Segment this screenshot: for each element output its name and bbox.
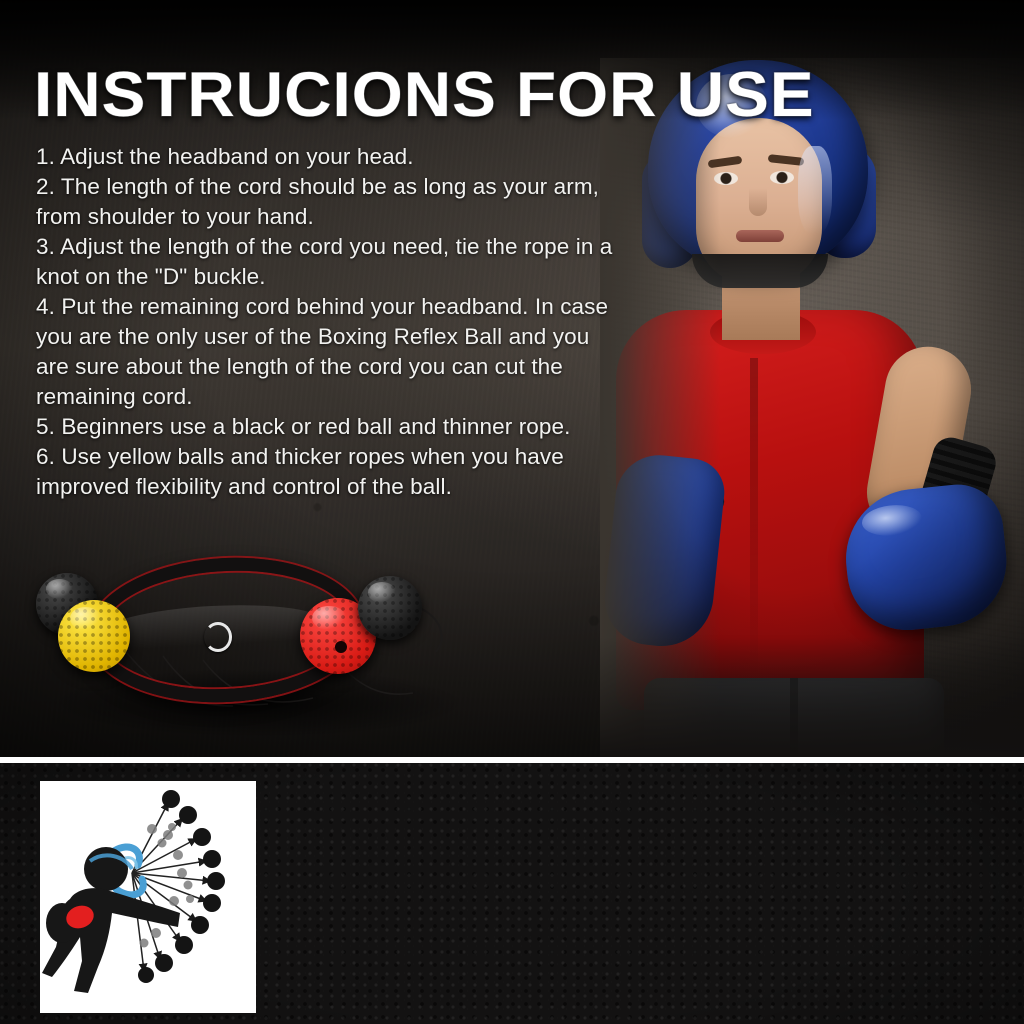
spare-ropes-panel: SPARE ROPES The package is equipped with… bbox=[0, 763, 1024, 1024]
trajectory-diagram-svg bbox=[40, 781, 256, 1013]
right-eye bbox=[770, 171, 794, 184]
left-eye bbox=[714, 172, 738, 185]
nose bbox=[749, 188, 767, 216]
instruction-step: 4. Put the remaining cord behind your he… bbox=[36, 292, 626, 412]
instruction-step: 6. Use yellow balls and thicker ropes wh… bbox=[36, 442, 626, 502]
instruction-step: 1. Adjust the headband on your head. bbox=[36, 142, 626, 172]
d-ring-buckle bbox=[204, 622, 232, 652]
chin-strap bbox=[692, 254, 828, 288]
model-photo-boy-with-headguard bbox=[600, 58, 1024, 757]
yellow-reflex-ball bbox=[58, 600, 130, 672]
tshirt-fold bbox=[750, 358, 758, 678]
black-reflex-ball bbox=[358, 576, 422, 640]
mouth bbox=[736, 230, 784, 242]
instruction-step: 3. Adjust the length of the cord you nee… bbox=[36, 232, 626, 292]
page-title: INSTRUCIONS FOR USE bbox=[34, 64, 939, 126]
headguard-side-highlight bbox=[798, 146, 832, 234]
instruction-step: 2. The length of the cord should be as l… bbox=[36, 172, 626, 232]
product-infographic: INSTRUCIONS FOR USE 1. Adjust the headba… bbox=[0, 0, 1024, 1024]
reflex-ball-trajectory-diagram bbox=[40, 781, 256, 1013]
shorts-fold bbox=[790, 678, 798, 757]
product-photo-headband-and-balls bbox=[28, 548, 488, 738]
instructions-panel: INSTRUCIONS FOR USE 1. Adjust the headba… bbox=[0, 0, 1024, 757]
instruction-step: 5. Beginners use a black or red ball and… bbox=[36, 412, 626, 442]
instruction-steps-list: 1. Adjust the headband on your head. 2. … bbox=[36, 142, 626, 502]
